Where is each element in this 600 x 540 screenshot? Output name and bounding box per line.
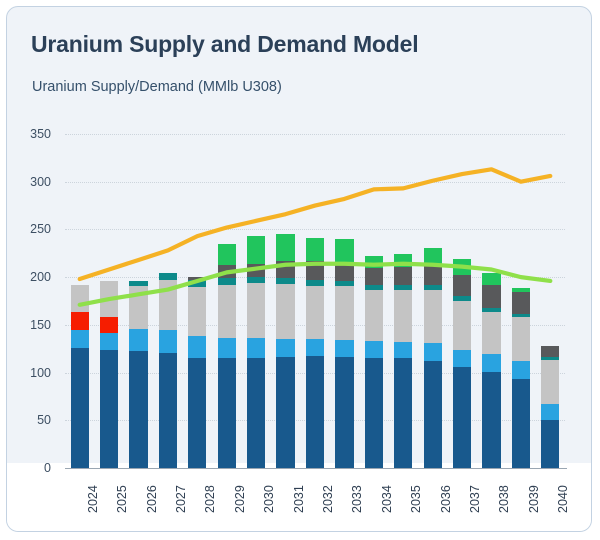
x-axis-tick-label: 2032 — [321, 485, 335, 513]
line-series-group — [65, 134, 565, 468]
x-axis-tick-label: 2030 — [262, 485, 276, 513]
y-axis-tick-label: 50 — [37, 413, 51, 427]
x-axis-tick-label: 2036 — [439, 485, 453, 513]
x-axis-tick-label: 2025 — [115, 485, 129, 513]
x-axis-line — [65, 468, 567, 469]
y-axis-tick-label: 200 — [30, 270, 51, 284]
y-axis-tick-label: 300 — [30, 175, 51, 189]
x-axis-tick-label: 2034 — [380, 485, 394, 513]
x-axis-tick-label: 2035 — [409, 485, 423, 513]
x-axis-tick-label: 2027 — [174, 485, 188, 513]
chart-subtitle: Uranium Supply/Demand (MMlb U308) — [32, 79, 282, 95]
line-series — [80, 264, 551, 305]
x-axis-tick-label: 2039 — [527, 485, 541, 513]
x-axis-tick-label: 2031 — [292, 485, 306, 513]
x-axis-tick-label: 2028 — [203, 485, 217, 513]
y-axis-tick-label: 350 — [30, 127, 51, 141]
y-axis-labels: 050100150200250300350 — [7, 134, 59, 468]
x-axis-tick-label: 2033 — [350, 485, 364, 513]
x-axis-tick-label: 2029 — [233, 485, 247, 513]
x-axis-tick-label: 2040 — [556, 485, 570, 513]
y-axis-tick-label: 150 — [30, 318, 51, 332]
x-axis-tick-label: 2024 — [86, 485, 100, 513]
x-axis-tick-label: 2037 — [468, 485, 482, 513]
y-axis-tick-label: 100 — [30, 366, 51, 380]
page-title: Uranium Supply and Demand Model — [31, 31, 418, 58]
chart-card: Uranium Supply and Demand Model Uranium … — [6, 6, 592, 532]
y-axis-tick-label: 0 — [44, 461, 51, 475]
y-axis-tick-label: 250 — [30, 222, 51, 236]
plot-area — [65, 134, 565, 468]
x-axis-tick-label: 2026 — [145, 485, 159, 513]
x-axis-tick-label: 2038 — [497, 485, 511, 513]
